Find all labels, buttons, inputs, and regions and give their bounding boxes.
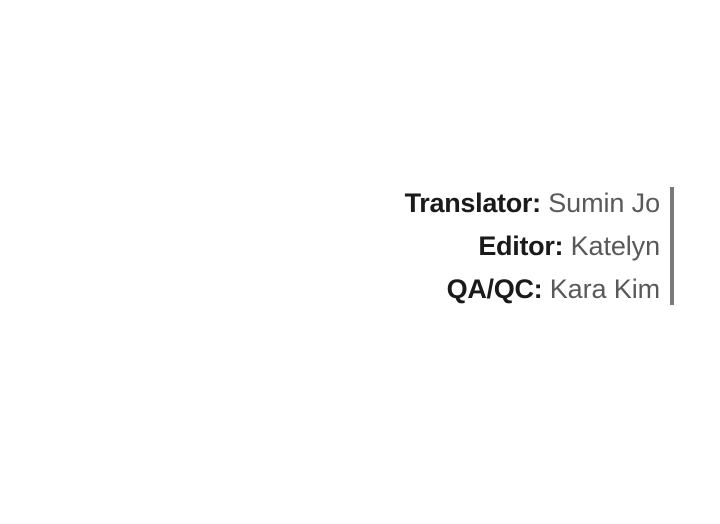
credit-role-label: Translator: xyxy=(405,188,541,218)
vertical-rule-divider xyxy=(670,187,674,305)
credit-role-label: Editor: xyxy=(478,231,563,261)
credit-entry-translator: Translator: Sumin Jo xyxy=(360,182,660,225)
credits-list: Translator: Sumin Jo Editor: Katelyn QA/… xyxy=(360,182,670,311)
slide-canvas: Translator: Sumin Jo Editor: Katelyn QA/… xyxy=(0,0,720,524)
credits-block: Translator: Sumin Jo Editor: Katelyn QA/… xyxy=(360,182,674,311)
credit-entry-qaqc: QA/QC: Kara Kim xyxy=(360,268,660,311)
credit-person-name: Kara Kim xyxy=(542,274,660,304)
credit-role-label: QA/QC: xyxy=(447,274,543,304)
credit-entry-editor: Editor: Katelyn xyxy=(360,225,660,268)
credit-person-name: Sumin Jo xyxy=(541,188,660,218)
credit-person-name: Katelyn xyxy=(563,231,660,261)
